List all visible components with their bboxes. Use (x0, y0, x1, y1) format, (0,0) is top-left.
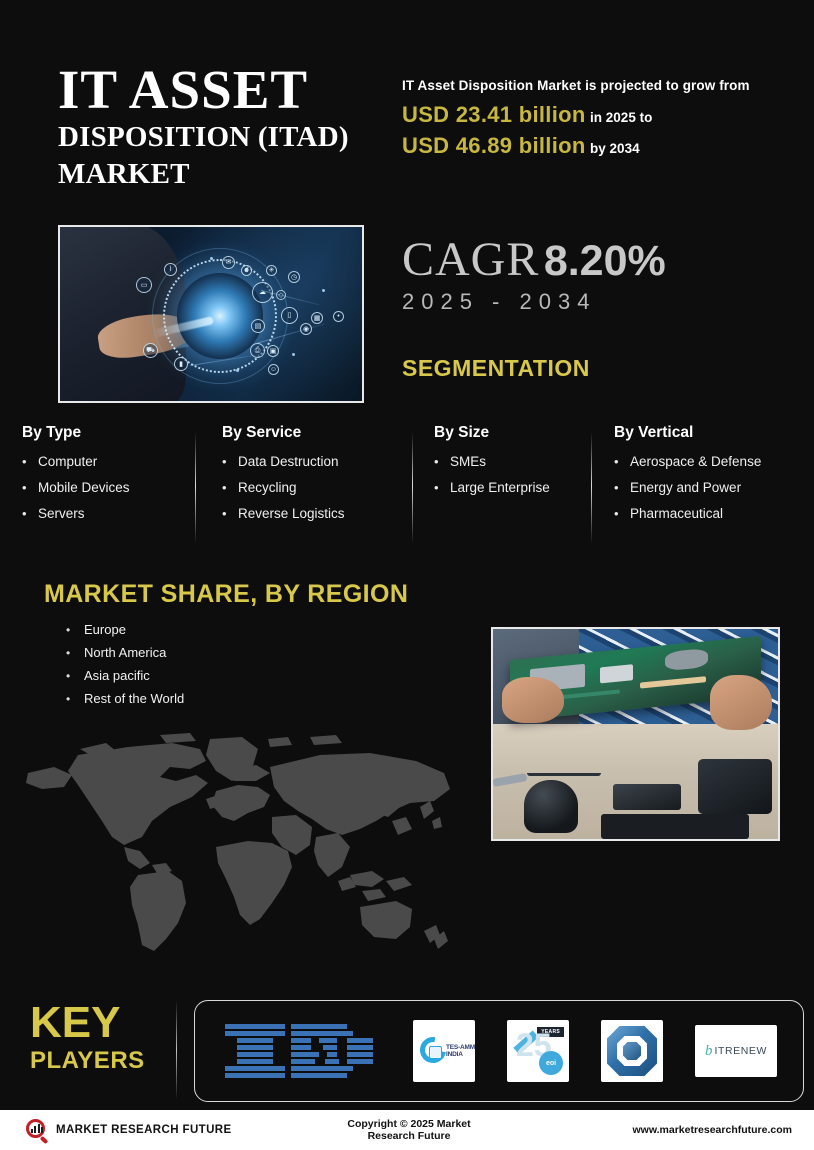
key-players-divider (176, 1000, 177, 1100)
segment-item: •Large Enterprise (434, 480, 594, 496)
bullet-icon: • (614, 454, 630, 470)
bullet-icon: • (614, 506, 630, 522)
chip-icon: ▦ (311, 312, 323, 324)
segment-item-label: Aerospace & Defense (630, 454, 761, 470)
photo-right-hand (710, 675, 773, 730)
segment-item: •Computer (22, 454, 202, 470)
title-line-1: IT ASSET (58, 62, 388, 118)
world-map (20, 725, 480, 970)
hexagon-logo-icon (604, 1023, 660, 1079)
logo-hexagon-mark[interactable] (601, 1020, 663, 1082)
bullet-icon: • (22, 480, 38, 496)
network-node (322, 289, 325, 292)
mobile-icon: ▯ (281, 307, 298, 324)
region-label: North America (84, 645, 166, 661)
projection-from-amount: USD 23.41 billion (402, 102, 586, 127)
footer-brand-label: MARKET RESEARCH FUTURE (56, 1124, 232, 1136)
footer-copyright: Copyright © 2025 Market Research Future (326, 1118, 492, 1142)
photo-laptop-shell (698, 759, 772, 814)
hero-image-art: ▭ ⌇ ⛟ ▮ ☁ ▯ ▤ ⎙ ◉ ✉ ☻ ✳ ◷ ◇ ▣ ▦ ☺ • (60, 227, 362, 401)
segment-title: By Size (434, 424, 594, 442)
node-icon: • (333, 311, 344, 322)
bullet-icon: • (66, 668, 84, 684)
key-players-title-line1: KEY (30, 1000, 170, 1046)
key-players-title-line2: PLAYERS (30, 1046, 170, 1076)
ibm-logo-icon (225, 1024, 377, 1078)
repair-bench-photo (491, 627, 780, 841)
cagr-years: 2025 - 2034 (402, 289, 666, 315)
projection-from-line: USD 23.41 billion in 2025 to (402, 102, 792, 128)
projection-to-amount: USD 46.89 billion (402, 133, 586, 158)
region-item: •North America (66, 645, 184, 661)
key-players-title: KEY PLAYERS (30, 1000, 170, 1076)
bullet-icon: • (614, 480, 630, 496)
cagr-block: CAGR 8.20% 2025 - 2034 (402, 232, 666, 315)
user-icon: ☻ (241, 265, 252, 276)
cagr-label: CAGR (402, 233, 539, 286)
cagr-line: CAGR 8.20% (402, 232, 666, 287)
lamp-icon: ⌇ (164, 263, 177, 276)
region-item: •Asia pacific (66, 668, 184, 684)
segment-item: •Mobile Devices (22, 480, 202, 496)
bullet-icon: • (222, 480, 238, 496)
segment-title: By Vertical (614, 424, 804, 442)
cart-icon: ⛟ (143, 343, 158, 358)
projection-to-suffix: by 2034 (590, 141, 640, 156)
infographic-canvas: IT ASSET DISPOSITION (ITAD) MARKET IT As… (0, 0, 814, 1150)
column-divider (412, 432, 413, 544)
region-item: •Europe (66, 622, 184, 638)
chat-icon: ▣ (267, 345, 279, 357)
board-chip (600, 664, 633, 683)
tes-amm-logo-icon: TES-AMM INDIA (413, 1020, 475, 1082)
bullet-icon: • (434, 480, 450, 496)
segment-item: •SMEs (434, 454, 594, 470)
segment-title: By Type (22, 424, 202, 442)
server-icon: ▤ (251, 319, 265, 333)
segment-item: •Pharmaceutical (614, 506, 804, 522)
segment-item: •Energy and Power (614, 480, 804, 496)
itrenew-logo-label: ITRENEW (714, 1045, 767, 1057)
segmentation-column-type: By Type •Computer •Mobile Devices •Serve… (22, 424, 202, 532)
monitor-icon: ▭ (136, 277, 152, 293)
network-node (292, 353, 295, 356)
photo-tool-stand (527, 738, 601, 776)
bullet-icon: • (66, 645, 84, 661)
segment-item: •Reverse Logistics (222, 506, 417, 522)
logo-25-years-eoi[interactable]: YEARS 25 eoi (507, 1020, 569, 1082)
projection-block: IT Asset Disposition Market is projected… (402, 78, 792, 164)
column-divider (591, 432, 592, 544)
title-line-3: MARKET (58, 156, 388, 192)
region-label: Rest of the World (84, 691, 184, 707)
itrenew-leaf-mark: b (705, 1043, 713, 1060)
itrenew-logo-icon: b ITRENEW (705, 1043, 767, 1060)
market-share-title: MARKET SHARE, BY REGION (44, 580, 408, 609)
title-line-2: DISPOSITION (ITAD) (58, 118, 388, 156)
segment-item: •Data Destruction (222, 454, 417, 470)
bullet-icon: • (222, 506, 238, 522)
segment-item-label: SMEs (450, 454, 486, 470)
logo-tes-amm-india[interactable]: TES-AMM INDIA (413, 1020, 475, 1082)
board-chip (666, 648, 709, 670)
key-players-logo-box: TES-AMM INDIA YEARS 25 eoi b ITRENEW (194, 1000, 804, 1102)
segmentation-heading: SEGMENTATION (402, 355, 590, 382)
eoi-badge: eoi (539, 1051, 563, 1075)
segment-item: •Aerospace & Defense (614, 454, 804, 470)
smiley-icon: ☺ (268, 364, 279, 375)
segment-item-label: Reverse Logistics (238, 506, 345, 522)
footer-bar: MARKET RESEARCH FUTURE Copyright © 2025 … (0, 1110, 814, 1150)
network-node (210, 257, 213, 260)
mail-icon: ✉ (222, 256, 235, 269)
bullet-icon: • (66, 691, 84, 707)
segmentation-column-vertical: By Vertical •Aerospace & Defense •Energy… (614, 424, 804, 532)
region-item: •Rest of the World (66, 691, 184, 707)
footer-brand[interactable]: MARKET RESEARCH FUTURE (26, 1119, 326, 1142)
bullet-icon: • (22, 454, 38, 470)
page-title: IT ASSET DISPOSITION (ITAD) MARKET (58, 62, 388, 192)
photo-hard-drive (613, 784, 681, 809)
map-landmasses (26, 733, 450, 951)
segment-item-label: Energy and Power (630, 480, 741, 496)
projection-lead: IT Asset Disposition Market is projected… (402, 78, 792, 93)
column-divider (195, 432, 196, 544)
segment-title: By Service (222, 424, 417, 442)
segment-item: •Recycling (222, 480, 417, 496)
bullet-icon: • (434, 454, 450, 470)
photo-left-hand (502, 677, 565, 723)
segment-item-label: Recycling (238, 480, 297, 496)
projection-to-line: USD 46.89 billion by 2034 (402, 133, 792, 159)
segmentation-column-size: By Size •SMEs •Large Enterprise (434, 424, 594, 506)
tes-amm-logo-label: TES-AMM INDIA (446, 1044, 475, 1058)
region-label: Asia pacific (84, 668, 150, 684)
market-share-region-list: •Europe •North America •Asia pacific •Re… (66, 622, 184, 714)
segment-item-label: Computer (38, 454, 97, 470)
segment-item-label: Mobile Devices (38, 480, 130, 496)
clock-icon: ◷ (288, 271, 300, 283)
segment-item: •Servers (22, 506, 202, 522)
segment-item-label: Large Enterprise (450, 480, 550, 496)
segment-item-label: Servers (38, 506, 85, 522)
region-label: Europe (84, 622, 126, 638)
segment-item-label: Data Destruction (238, 454, 339, 470)
battery-icon: ▮ (174, 357, 188, 371)
gear-icon: ✳ (266, 265, 277, 276)
photo-keyboard (601, 814, 749, 839)
logo-ibm[interactable] (221, 1020, 381, 1082)
projection-from-suffix: in 2025 to (590, 110, 652, 125)
bullet-icon: • (222, 454, 238, 470)
board-chip (641, 676, 706, 688)
segment-item-label: Pharmaceutical (630, 506, 723, 522)
logo-itrenew[interactable]: b ITRENEW (695, 1025, 777, 1077)
cagr-value: 8.20% (544, 237, 666, 285)
market-research-future-logo-icon (26, 1119, 49, 1142)
segmentation-columns: By Type •Computer •Mobile Devices •Serve… (22, 424, 794, 548)
footer-url[interactable]: www.marketresearchfuture.com (492, 1124, 792, 1136)
bullet-icon: • (22, 506, 38, 522)
hero-image: ▭ ⌇ ⛟ ▮ ☁ ▯ ▤ ⎙ ◉ ✉ ☻ ✳ ◷ ◇ ▣ ▦ ☺ • (58, 225, 364, 403)
anniversary-logo-icon: YEARS 25 eoi (507, 1020, 569, 1082)
network-node (236, 369, 239, 372)
photo-dome-object (524, 780, 578, 833)
bullet-icon: • (66, 622, 84, 638)
segmentation-column-service: By Service •Data Destruction •Recycling … (222, 424, 417, 532)
